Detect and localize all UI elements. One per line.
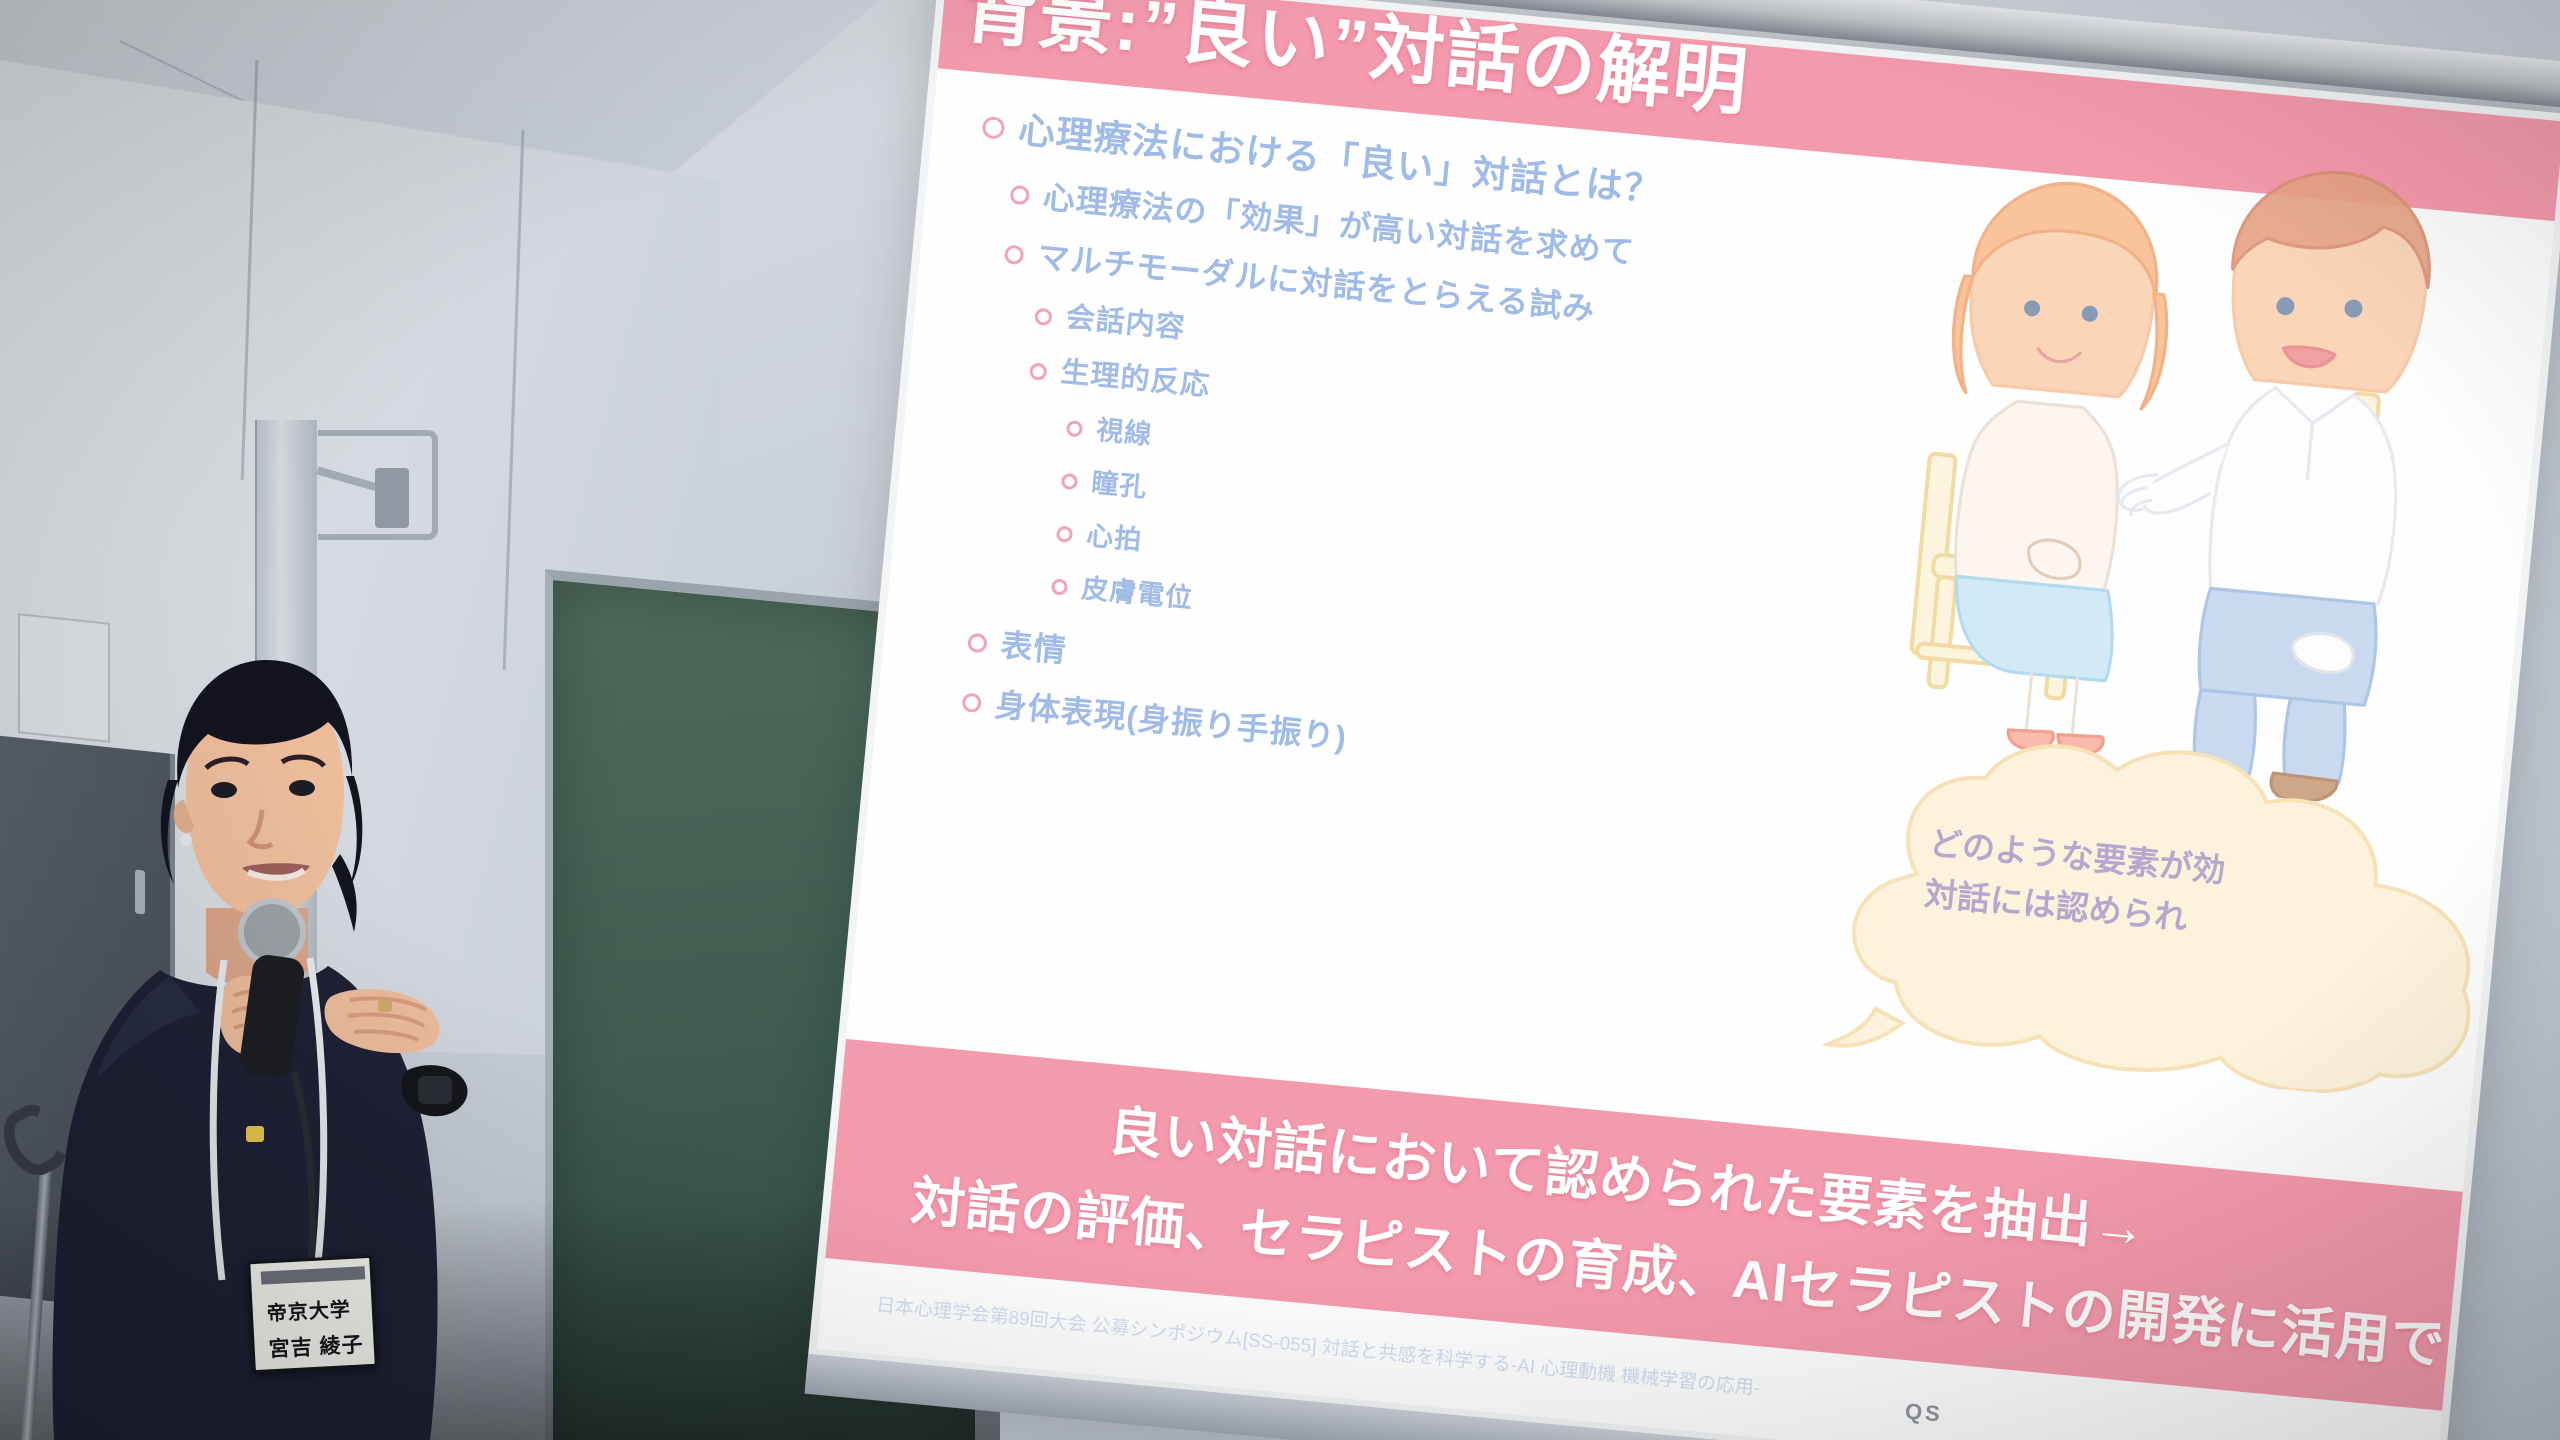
bullet-text: 身体表現(身振り手振り): [994, 689, 1349, 754]
bullet-ring-icon: [1051, 578, 1068, 595]
slide-conclusion-band: 良い対話において認められた要素を抽出→ 対話の評価、セラピストの育成、AIセラピ…: [817, 1036, 2560, 1421]
bullet-ring-icon: [1004, 244, 1025, 265]
bullet-text: 視線: [1095, 417, 1153, 449]
bullet-text: 瞳孔: [1090, 470, 1148, 502]
bullet-ring-icon: [1066, 420, 1083, 437]
presenter-name-badge: 帝京大学 宮吉 綾子: [247, 1255, 378, 1373]
bullet-text: 生理的反応: [1059, 358, 1211, 401]
bullet-text: 皮膚電位: [1080, 575, 1194, 612]
wall-speaker: [375, 468, 409, 528]
badge-name: 宮吉 綾子: [268, 1328, 364, 1363]
bullet-ring-icon: [967, 633, 988, 654]
badge-organization: 帝京大学: [266, 1293, 351, 1326]
projection-screen: 背景:”良い”対話の解明 心理療法における「良い」対話とは？ 心理療法の「効果」…: [799, 0, 2560, 1440]
cloud-callout: どのような要素が効 対話には認められ: [1780, 713, 2548, 1111]
screen-frame: 背景:”良い”対話の解明 心理療法における「良い」対話とは？ 心理療法の「効果」…: [805, 0, 2560, 1440]
bullet-ring-icon: [961, 692, 982, 713]
bullet-text: 会話内容: [1065, 303, 1187, 343]
slide: 背景:”良い”対話の解明 心理療法における「良い」対話とは？ 心理療法の「効果」…: [817, 0, 2560, 1440]
bullet-ring-icon: [1061, 473, 1078, 490]
bullet-ring-icon: [1056, 526, 1073, 543]
bullet-ring-icon: [1009, 185, 1030, 206]
illustration-two-people-conversation: [1887, 124, 2545, 818]
bullet-text: 心拍: [1085, 522, 1143, 554]
projector-brand-label: QS: [1904, 1398, 1944, 1427]
bullet-ring-icon: [1034, 308, 1053, 327]
bullet-ring-icon: [981, 116, 1005, 140]
presentation-scene: 背景:”良い”対話の解明 心理療法における「良い」対話とは？ 心理療法の「効果」…: [0, 0, 2560, 1440]
slide-bullet-list: 心理療法における「良い」対話とは？ 心理療法の「効果」が高い対話を求めて マルチ…: [924, 108, 1930, 832]
bullet-ring-icon: [1029, 362, 1048, 381]
badge-header-bar: [261, 1266, 366, 1284]
bullet-text: 表情: [999, 629, 1068, 667]
